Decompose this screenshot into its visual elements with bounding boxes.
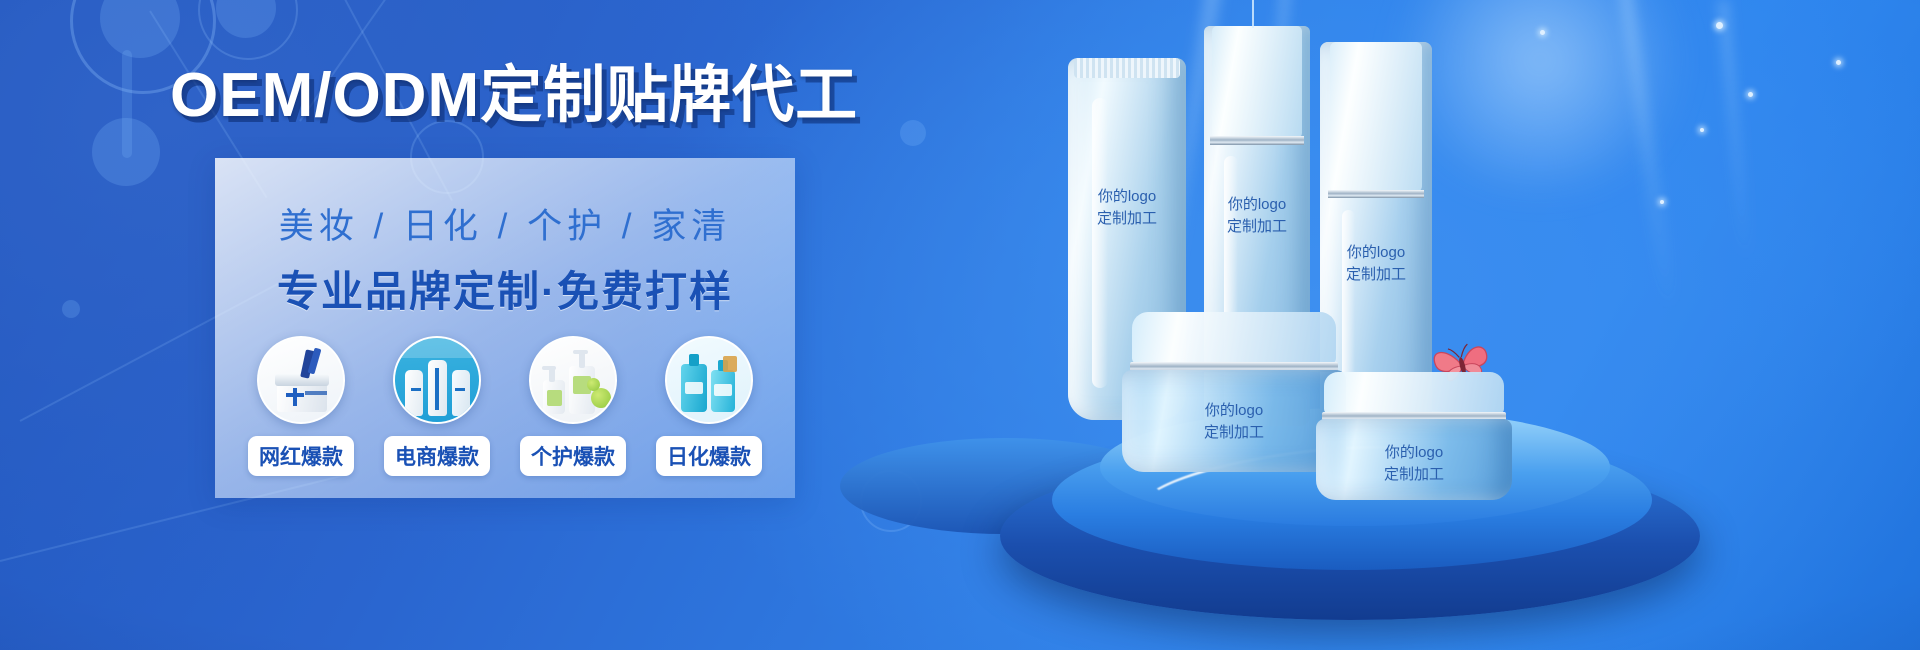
thumbnail-label: 电商爆款 bbox=[384, 436, 490, 476]
thumbnail-label: 个护爆款 bbox=[520, 436, 626, 476]
product-logo-text: 你的logo 定制加工 bbox=[1068, 186, 1186, 230]
detergent-bottle-icon bbox=[665, 336, 753, 424]
thumbnail-item[interactable]: 个护爆款 bbox=[518, 336, 628, 476]
thumbnail-item[interactable]: 网红爆款 bbox=[246, 336, 356, 476]
cream-jar-icon bbox=[257, 336, 345, 424]
skincare-set-icon bbox=[393, 336, 481, 424]
product-logo-text: 你的logo 定制加工 bbox=[1122, 400, 1346, 444]
product-logo-text: 你的logo 定制加工 bbox=[1320, 242, 1432, 286]
thumbnail-item[interactable]: 日化爆款 bbox=[654, 336, 764, 476]
thumbnail-label: 日化爆款 bbox=[656, 436, 762, 476]
banner-title: OEM/ODM定制贴牌代工 bbox=[170, 44, 858, 134]
product-stage: 你的logo 定制加工 你的logo 定制加工 你的logo 定制加工 bbox=[960, 0, 1920, 650]
product-logo-text: 你的logo 定制加工 bbox=[1316, 442, 1512, 486]
promo-banner: OEM/ODM定制贴牌代工 美妆 / 日化 / 个护 / 家清 专业品牌定制·免… bbox=[0, 0, 1920, 650]
thumbnail-item[interactable]: 电商爆款 bbox=[382, 336, 492, 476]
info-panel: 美妆 / 日化 / 个护 / 家清 专业品牌定制·免费打样 网红爆款 bbox=[215, 158, 795, 498]
thumbnail-label: 网红爆款 bbox=[248, 436, 354, 476]
product-cream-jar-small: 你的logo 定制加工 bbox=[1316, 372, 1512, 500]
product-logo-text: 你的logo 定制加工 bbox=[1204, 194, 1310, 238]
decor-node-dot bbox=[100, 0, 180, 58]
headline-text: 专业品牌定制·免费打样 bbox=[215, 258, 795, 319]
decor-node-dot bbox=[92, 118, 160, 186]
decor-node-dot bbox=[216, 0, 276, 38]
decor-connector-rod bbox=[122, 50, 132, 158]
pump-bottle-icon bbox=[529, 336, 617, 424]
category-line: 美妆 / 日化 / 个护 / 家清 bbox=[215, 198, 795, 249]
product-cream-jar-large: 你的logo 定制加工 bbox=[1122, 312, 1346, 472]
thumbnail-row: 网红爆款 电商爆款 bbox=[215, 336, 795, 476]
decor-node-dot bbox=[62, 300, 80, 318]
decor-node-dot bbox=[900, 120, 926, 146]
